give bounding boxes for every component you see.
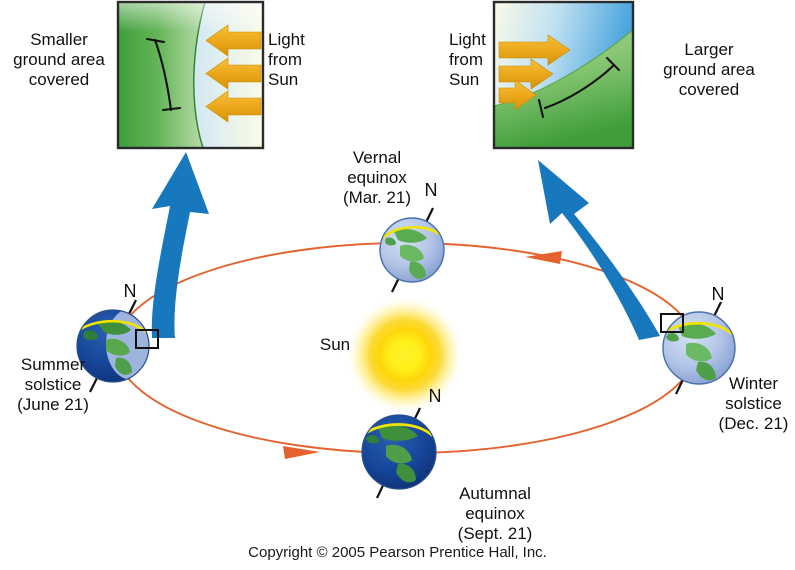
north-pole-label-vernal: N bbox=[420, 180, 442, 201]
larger-ground-area-label: Larger ground area covered bbox=[645, 40, 773, 100]
callout-arrow-right bbox=[538, 160, 660, 340]
earth-vernal-equinox bbox=[380, 208, 444, 292]
winter-solstice-label: Winter solstice (Dec. 21) bbox=[712, 374, 795, 434]
north-pole-label-autumnal: N bbox=[424, 386, 446, 407]
inset-panel-left bbox=[118, 2, 263, 148]
autumnal-equinox-label: Autumnal equinox (Sept. 21) bbox=[430, 484, 560, 544]
north-pole-label-summer: N bbox=[119, 281, 141, 302]
callout-arrow-left bbox=[152, 152, 209, 338]
summer-solstice-label: Summer solstice (June 21) bbox=[0, 355, 106, 415]
copyright-notice: Copyright © 2005 Pearson Prentice Hall, … bbox=[0, 544, 795, 562]
light-from-sun-label-left: Light from Sun bbox=[268, 30, 346, 90]
smaller-ground-area-label: Smaller ground area covered bbox=[2, 30, 116, 90]
sun-label: Sun bbox=[300, 335, 370, 355]
light-from-sun-label-right: Light from Sun bbox=[449, 30, 527, 90]
earth-autumnal-equinox bbox=[362, 408, 436, 498]
sunlight-arrows-left bbox=[206, 25, 261, 122]
seasons-diagram: Smaller ground area covered Light from S… bbox=[0, 0, 795, 570]
north-pole-label-winter: N bbox=[707, 284, 729, 305]
